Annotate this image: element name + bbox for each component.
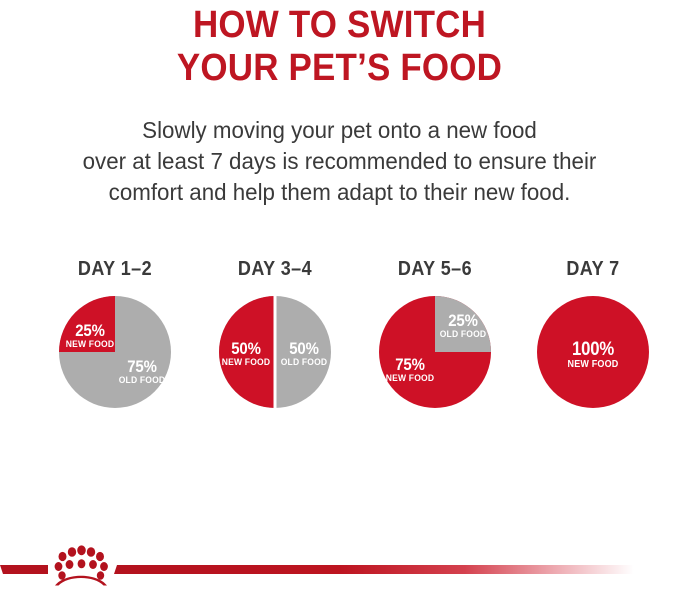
- day-label-2: DAY 3–4: [203, 258, 347, 281]
- slice-divider-2: [274, 296, 277, 408]
- pie-graphic-3: 25% OLD FOOD 75% NEW FOOD: [379, 296, 491, 408]
- footer-rule-left: [0, 565, 48, 574]
- page-title: HOW TO SWITCH YOUR PET’S FOOD: [27, 4, 652, 90]
- pie-graphic-4: 100% NEW FOOD: [537, 296, 649, 408]
- footer: [0, 530, 679, 594]
- day-label-4: DAY 7: [521, 258, 665, 281]
- pie-graphic-2: 50% NEW FOOD 50% OLD FOOD: [219, 296, 331, 408]
- pie-svg-2: [219, 296, 331, 408]
- page-title-line-2: YOUR PET’S FOOD: [27, 47, 652, 90]
- page-title-line-1: HOW TO SWITCH: [27, 4, 652, 47]
- pie-svg-4: [537, 296, 649, 408]
- intro-line-2: over at least 7 days is recommended to e…: [17, 146, 662, 177]
- intro-line-3: comfort and help them adapt to their new…: [17, 177, 662, 208]
- new-food-slice-4: [537, 296, 649, 408]
- day-label-1: DAY 1–2: [43, 258, 187, 281]
- pie-chart-day-7: DAY 7 100% NEW FOOD: [513, 258, 673, 438]
- pie-graphic-1: 25% NEW FOOD 75% OLD FOOD: [59, 296, 171, 408]
- pie-svg-3: [379, 296, 491, 408]
- pie-chart-day-3-4: DAY 3–4 50% NEW FOOD 50% OLD FOOD: [195, 258, 355, 438]
- pie-svg-1: [59, 296, 171, 408]
- day-label-3: DAY 5–6: [363, 258, 507, 281]
- old-food-slice-3: [435, 296, 491, 352]
- intro-line-1: Slowly moving your pet onto a new food: [17, 115, 662, 146]
- footer-rule-right: [114, 565, 679, 574]
- new-food-slice-2: [219, 296, 275, 408]
- crown-svg: [48, 544, 114, 586]
- pie-chart-day-5-6: DAY 5–6 25% OLD FOOD 75% NEW FOOD: [355, 258, 515, 438]
- transition-schedule-chart-row: DAY 1–2 25% NEW FOOD 75% OLD FOOD DAY 3–…: [0, 258, 679, 438]
- royal-canin-crown-icon: [48, 544, 114, 586]
- pie-chart-day-1-2: DAY 1–2 25% NEW FOOD 75% OLD FOOD: [35, 258, 195, 438]
- intro-paragraph: Slowly moving your pet onto a new food o…: [17, 115, 662, 208]
- new-food-slice-1: [59, 296, 115, 352]
